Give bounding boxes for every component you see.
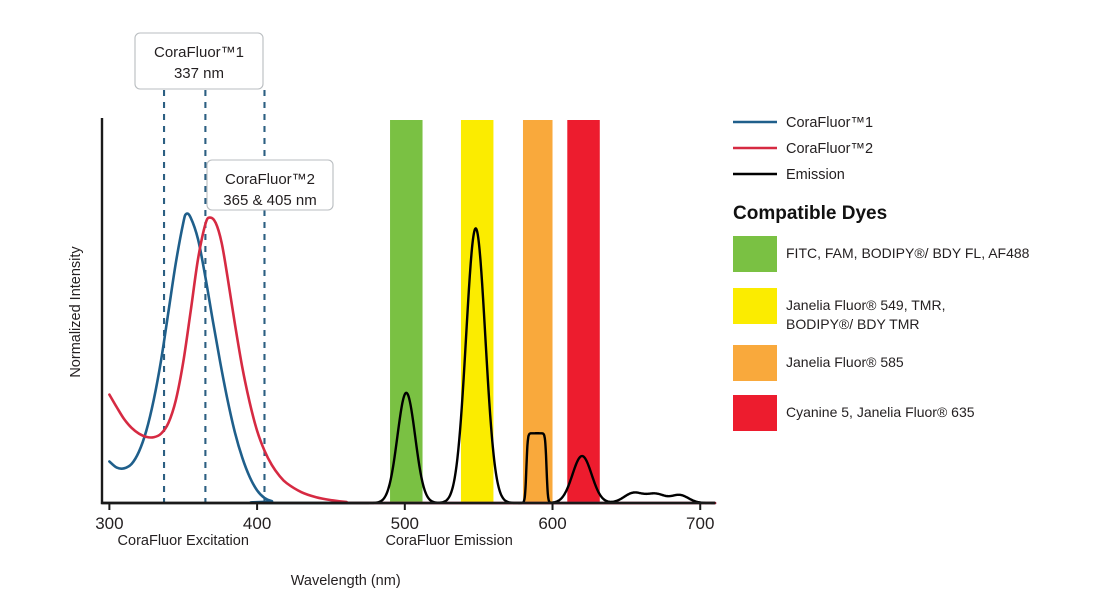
red-band — [567, 120, 599, 503]
x-tick-label: 400 — [243, 514, 271, 533]
green-band — [390, 120, 422, 503]
callout-corafluor1-line1: CoraFluor™1 — [154, 44, 244, 61]
figure-root: 300400500600700CoraFluor ExcitationCoraF… — [0, 0, 1110, 612]
x-tick-label: 700 — [686, 514, 714, 533]
y-axis-title: Normalized Intensity — [68, 246, 84, 378]
spectra-chart: 300400500600700CoraFluor ExcitationCoraF… — [0, 0, 1110, 612]
x-axis-title: Wavelength (nm) — [291, 573, 401, 589]
x-tick-label: 300 — [95, 514, 123, 533]
callout-corafluor1: CoraFluor™1337 nm — [135, 33, 263, 89]
yellow-band — [461, 120, 493, 503]
callout-corafluor2-line2: 365 & 405 nm — [223, 192, 316, 209]
callout-corafluor2-line1: CoraFluor™2 — [225, 171, 315, 188]
callout-corafluor1-line2: 337 nm — [174, 65, 224, 82]
callout-corafluor2: CoraFluor™2365 & 405 nm — [207, 160, 333, 210]
region-label-0: CoraFluor Excitation — [118, 533, 249, 549]
x-tick-label: 600 — [538, 514, 566, 533]
x-tick-label: 500 — [391, 514, 419, 533]
region-label-1: CoraFluor Emission — [385, 533, 512, 549]
